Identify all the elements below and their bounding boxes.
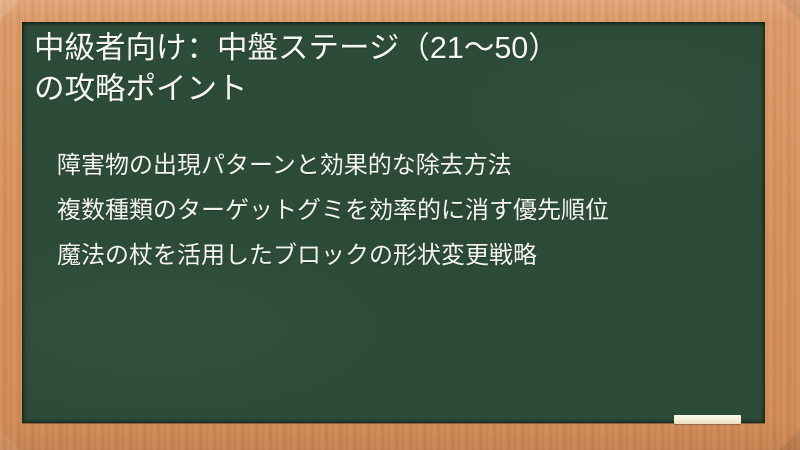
- bullet-list: 障害物の出現パターンと効果的な除去方法 複数種類のターゲットグミを効率的に消す優…: [57, 148, 747, 283]
- chalkboard-surface: 中級者向け：中盤ステージ（21〜50） の攻略ポイント 障害物の出現パターンと効…: [22, 22, 765, 423]
- chalk-stick-icon: [674, 415, 741, 424]
- list-item: 障害物の出現パターンと効果的な除去方法: [57, 148, 747, 184]
- list-item: 複数種類のターゲットグミを効率的に消す優先順位: [57, 193, 747, 229]
- list-item: 魔法の杖を活用したブロックの形状変更戦略: [57, 238, 747, 274]
- board-content: 中級者向け：中盤ステージ（21〜50） の攻略ポイント 障害物の出現パターンと効…: [22, 22, 765, 423]
- chalkboard-slide: 中級者向け：中盤ステージ（21〜50） の攻略ポイント 障害物の出現パターンと効…: [0, 0, 800, 450]
- page-title: 中級者向け：中盤ステージ（21〜50） の攻略ポイント: [34, 28, 750, 110]
